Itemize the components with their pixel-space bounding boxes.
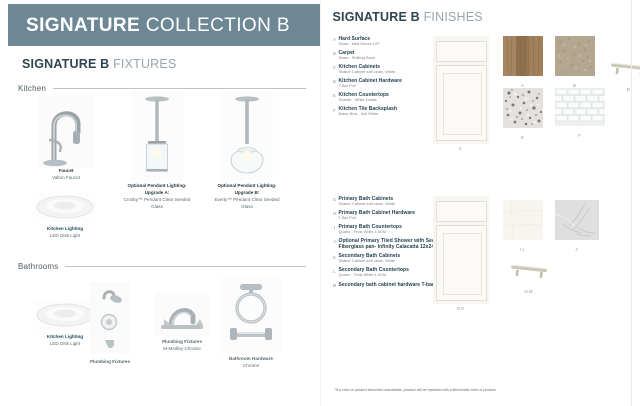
swatch-label: G K <box>433 306 489 311</box>
finish-letter: H <box>331 210 339 221</box>
fixture-desc: Chrome <box>208 363 294 370</box>
page-title: SIGNATURE COLLECTION B <box>8 16 290 35</box>
quartz-icon <box>503 200 543 240</box>
finish-row: D Kitchen Cabinet Hardware T-Bar Pull <box>331 78 449 89</box>
fixture-title: Optional Pendant Lighting- Upgrade B: <box>208 183 286 197</box>
fixture-caption-faucet: Faucet Valton Faucet <box>28 168 104 182</box>
swatch-quartz: I L <box>503 200 543 252</box>
swatch-label: J <box>555 247 599 252</box>
subway-tile-icon <box>555 88 605 126</box>
fixture-desc: LED Disk Light <box>20 233 110 240</box>
finishes-title-bold: SIGNATURE B <box>333 10 420 24</box>
section-rule <box>53 88 306 89</box>
fixture-title: Optional Pendant Lighting- Upgrade A: <box>118 183 196 197</box>
wood-plank-icon <box>503 36 543 76</box>
finish-row: I Primary Bath Countertops Quartz - Fros… <box>331 224 449 235</box>
finish-row: K Secondary Bath Cabinets Shaker Cabinet… <box>331 253 449 264</box>
finishes-title: SIGNATURE B FINISHES <box>333 10 483 24</box>
swatch-shower-tile: J <box>555 200 599 252</box>
cabinet-door-icon <box>433 36 489 144</box>
fixture-item-faucet: Faucet Valton Faucet <box>28 96 104 182</box>
marble-tile-icon <box>555 200 599 240</box>
fixture-title: Faucet <box>28 168 104 175</box>
kitchen-faucet-icon <box>38 96 94 168</box>
granite-icon <box>503 88 543 128</box>
finish-letter: A <box>331 36 339 47</box>
swatch-label: I L <box>503 247 543 252</box>
fixtures-panel: SIGNATURE COLLECTION B SIGNATURE B FIXTU… <box>0 0 320 406</box>
finish-row: B Carpet Shaw - Shifting Sand <box>331 50 449 61</box>
page-title-light: COLLECTION B <box>146 15 290 36</box>
finish-row: M Secondary bath cabinet hardware T-bar … <box>331 282 449 288</box>
finish-letter: J <box>331 238 339 250</box>
spec-sheet-page: SIGNATURE COLLECTION B SIGNATURE B FIXTU… <box>0 0 640 406</box>
section-header-bathrooms: Bathrooms <box>18 262 306 271</box>
swatch-granite: E <box>503 88 543 140</box>
fixture-caption-pendant-b: Optional Pendant Lighting- Upgrade B: Ev… <box>208 183 286 211</box>
carpet-icon <box>555 36 595 76</box>
swatch-kitchen-pull: D <box>607 60 640 92</box>
finishes-list-bath: G Primary Bath Cabinets Shaker Cabinet s… <box>331 196 449 291</box>
fixture-title: Plumbing Fixtures <box>70 359 150 366</box>
finish-row: H Primary Bath Cabinet Hardware T-Bar Pu… <box>331 210 449 221</box>
finish-letter: I <box>331 224 339 235</box>
finishes-panel: SIGNATURE B FINISHES A Hard Surface Shaw… <box>320 0 640 406</box>
finish-row: A Hard Surface Shaw - Wild Dunes LVP <box>331 36 449 47</box>
pendant-light-cylinder-icon <box>131 90 183 180</box>
finish-row: C Kitchen Cabinets Shaker Cabinet soft c… <box>331 64 449 75</box>
swatch-label: C <box>433 146 489 151</box>
fixture-title: Bathroom Hardware <box>208 356 294 363</box>
cabinet-door-icon <box>433 196 489 304</box>
disk-light-icon <box>33 192 97 222</box>
collection-header-band: SIGNATURE COLLECTION B <box>8 4 320 46</box>
finish-letter: L <box>331 267 339 278</box>
towel-ring-bar-icon <box>220 278 282 354</box>
bar-pull-icon <box>607 60 640 80</box>
finish-row: J Optional Primary Tiled Shower with Sea… <box>331 238 449 250</box>
finish-letter: K <box>331 253 339 264</box>
pendant-light-schoolhouse-icon <box>221 90 273 180</box>
fixture-caption-shower-trim: Plumbing Fixtures <box>70 359 150 366</box>
swatch-label: D <box>607 87 640 92</box>
finish-letter: M <box>331 282 339 288</box>
footnote-disclaimer: *If a color or product becomes unavailab… <box>335 388 497 392</box>
fixture-desc: Valton Faucet <box>28 175 104 182</box>
finishes-title-light: FINISHES <box>424 10 483 24</box>
fixture-item-shower-trim: Plumbing Fixtures <box>70 282 150 366</box>
fixture-item-bath-hardware: Bathroom Hardware Chrome <box>208 278 294 370</box>
swatch-label: E <box>503 135 543 140</box>
swatch-label: H M <box>507 289 551 294</box>
finish-letter: B <box>331 50 339 61</box>
bar-pull-icon <box>507 262 551 282</box>
fixtures-subtitle-light: FIXTURES <box>113 57 176 71</box>
fixture-item-kitchen-lighting: Kitchen Lighting LED Disk Light <box>20 192 110 240</box>
swatch-carpet: B <box>555 36 595 88</box>
swatch-hard-surface: A <box>503 36 543 88</box>
lav-faucet-icon <box>155 292 209 336</box>
page-title-bold: SIGNATURE <box>26 15 140 36</box>
finish-row: G Primary Bath Cabinets Shaker Cabinet s… <box>331 196 449 207</box>
panel-edge-divider <box>631 0 632 406</box>
swatch-cabinet-bath: G K <box>433 196 489 311</box>
shower-trim-icon <box>90 282 130 354</box>
fixture-title: Kitchen Lighting <box>20 226 110 233</box>
finish-letter: E <box>331 92 339 103</box>
fixture-item-pendant-b: Optional Pendant Lighting- Upgrade B: Ev… <box>208 90 286 211</box>
finish-row: L Secondary Bath Countertops Quartz - Fr… <box>331 267 449 278</box>
fixture-caption-pendant-a: Optional Pendant Lighting- Upgrade A: Cr… <box>118 183 196 211</box>
fixture-item-pendant-a: Optional Pendant Lighting- Upgrade A: Cr… <box>118 90 196 211</box>
fixture-desc: Crosby™ Pendant Clear Seeded Glass <box>118 197 196 211</box>
section-rule <box>65 266 306 267</box>
swatch-label: F <box>555 133 605 138</box>
swatch-cabinet-kitchen: C <box>433 36 489 151</box>
finishes-list-kitchen: A Hard Surface Shaw - Wild Dunes LVP B C… <box>331 36 449 120</box>
section-label-bathrooms: Bathrooms <box>18 262 58 271</box>
finish-letter: D <box>331 78 339 89</box>
finish-row: E Kitchen Countertops Granite - White Da… <box>331 92 449 103</box>
finish-letter: G <box>331 196 339 207</box>
finish-letter: C <box>331 64 339 75</box>
fixture-desc: Everly™ Pendant Clear Seeded Glass <box>208 197 286 211</box>
swatch-bath-pull: H M <box>507 262 551 294</box>
fixtures-subtitle: SIGNATURE B FIXTURES <box>22 57 177 71</box>
finish-letter: F <box>331 106 339 117</box>
swatch-backsplash: F <box>555 88 605 138</box>
fixture-caption-kitchen-lighting: Kitchen Lighting LED Disk Light <box>20 226 110 240</box>
section-label-kitchen: Kitchen <box>18 84 46 93</box>
fixtures-subtitle-bold: SIGNATURE B <box>22 57 109 71</box>
fixture-caption-bath-hardware: Bathroom Hardware Chrome <box>208 356 294 370</box>
finish-row: F Kitchen Tile Backsplash Baker Blvd - 3… <box>331 106 449 117</box>
